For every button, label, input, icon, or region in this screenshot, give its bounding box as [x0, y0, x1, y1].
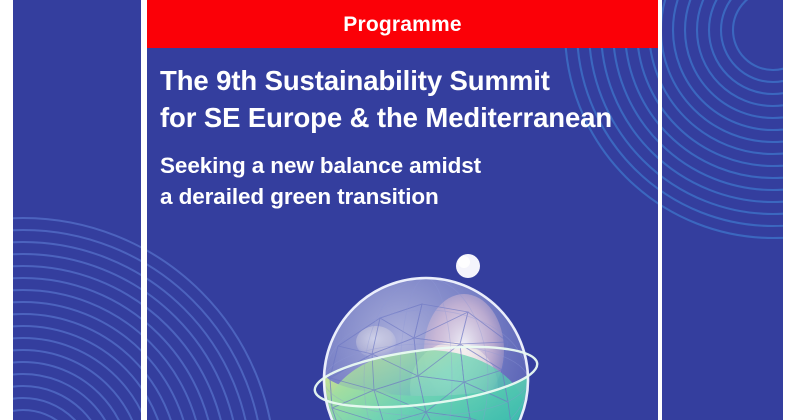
panel-divider-right: [658, 0, 662, 420]
panel-divider-left: [141, 0, 147, 420]
left-blue-panel: [13, 0, 141, 420]
summit-title-line-1: The 9th Sustainability Summit: [160, 62, 650, 99]
summit-subtitle-line-1: Seeking a new balance amidst: [160, 150, 650, 181]
summit-programme-poster: Programme The 9th Sustainability Summit …: [0, 0, 800, 420]
summit-title-line-2: for SE Europe & the Mediterranean: [160, 99, 650, 136]
right-blue-panel: [662, 0, 783, 420]
summit-subtitle-block: Seeking a new balance amidst a derailed …: [160, 150, 650, 212]
headline-text-block: The 9th Sustainability Summit for SE Eur…: [160, 62, 650, 212]
outer-left-margin: [0, 0, 13, 420]
programme-banner-label: Programme: [343, 14, 462, 35]
programme-banner: Programme: [147, 0, 658, 48]
summit-subtitle-line-2: a derailed green transition: [160, 181, 650, 212]
outer-right-margin: [783, 0, 800, 420]
